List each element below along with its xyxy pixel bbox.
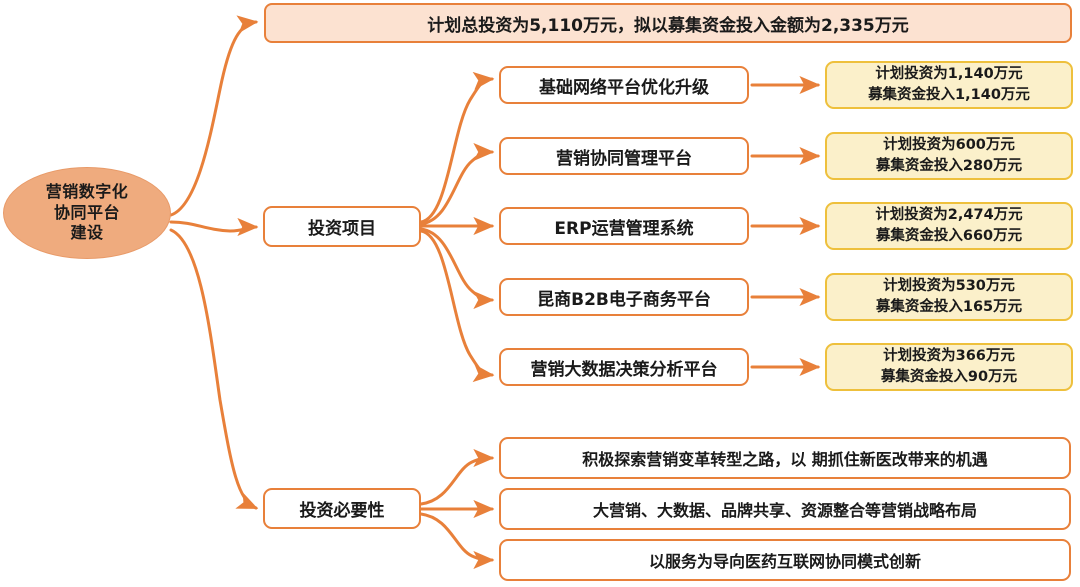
amount-box-2-text: 计划投资为600万元 募集资金投入280万元 (876, 135, 1022, 176)
necessity-box-1-label: 积极探索营销变革转型之路，以 期抓住新医改带来的机遇 (582, 446, 988, 470)
root-node-label: 营销数字化 协同平台 建设 (46, 182, 129, 243)
necessity-box-2[interactable]: 大营销、大数据、品牌共享、资源整合等营销战略布局 (499, 488, 1071, 530)
project-box-5-label: 营销大数据决策分析平台 (531, 355, 718, 380)
edge-root-need (171, 230, 256, 508)
project-box-1-label: 基础网络平台优化升级 (539, 73, 709, 98)
total-investment-banner[interactable]: 计划总投资为5,110万元，拟以募集资金投入金额为2,335万元 (264, 3, 1072, 43)
amount-box-5-raised: 募集资金投入90万元 (881, 369, 1017, 385)
edge-need-1 (421, 458, 492, 504)
project-box-2[interactable]: 营销协同管理平台 (499, 137, 749, 175)
amount-box-4-plan: 计划投资为530万元 (883, 278, 1015, 294)
amount-box-2-raised: 募集资金投入280万元 (876, 158, 1022, 174)
necessity-box-1[interactable]: 积极探索营销变革转型之路，以 期抓住新医改带来的机遇 (499, 437, 1071, 479)
root-label-line1: 营销数字化 (46, 182, 129, 201)
edge-projects-5 (421, 231, 492, 375)
amount-box-4-raised: 募集资金投入165万元 (876, 299, 1022, 315)
amount-box-2-plan: 计划投资为600万元 (883, 137, 1015, 153)
root-label-line2: 协同平台 (54, 203, 120, 222)
amount-box-4[interactable]: 计划投资为530万元 募集资金投入165万元 (825, 273, 1073, 321)
project-box-3[interactable]: ERP运营管理系统 (499, 207, 749, 245)
necessity-box-3[interactable]: 以服务为导向医药互联网协同模式创新 (499, 539, 1071, 581)
project-box-3-label: ERP运营管理系统 (554, 214, 693, 239)
amount-box-1-text: 计划投资为1,140万元 募集资金投入1,140万元 (868, 64, 1030, 105)
edge-root-banner (171, 22, 256, 215)
edge-projects-2 (421, 152, 492, 224)
branch-investment-necessity[interactable]: 投资必要性 (263, 488, 421, 529)
amount-box-3-raised: 募集资金投入660万元 (876, 228, 1022, 244)
edge-projects-4 (421, 229, 492, 300)
edge-root-projects (171, 222, 256, 231)
root-label-line3: 建设 (70, 223, 103, 242)
amount-box-3-text: 计划投资为2,474万元 募集资金投入660万元 (875, 205, 1022, 246)
amount-box-4-text: 计划投资为530万元 募集资金投入165万元 (876, 276, 1022, 317)
amount-box-3-plan: 计划投资为2,474万元 (875, 207, 1022, 223)
project-box-4-label: 昆商B2B电子商务平台 (537, 285, 711, 310)
mindmap-canvas: 营销数字化 协同平台 建设 计划总投资为5,110万元，拟以募集资金投入金额为2… (0, 0, 1080, 587)
branch-investment-projects-label: 投资项目 (308, 214, 376, 239)
amount-box-3[interactable]: 计划投资为2,474万元 募集资金投入660万元 (825, 202, 1073, 250)
project-box-4[interactable]: 昆商B2B电子商务平台 (499, 278, 749, 316)
amount-box-2[interactable]: 计划投资为600万元 募集资金投入280万元 (825, 132, 1073, 180)
necessity-box-2-label: 大营销、大数据、品牌共享、资源整合等营销战略布局 (593, 497, 977, 521)
edge-need-3 (421, 514, 492, 560)
branch-investment-projects[interactable]: 投资项目 (263, 206, 421, 247)
amount-box-5-text: 计划投资为366万元 募集资金投入90万元 (881, 346, 1017, 387)
amount-box-1[interactable]: 计划投资为1,140万元 募集资金投入1,140万元 (825, 61, 1073, 109)
project-box-5[interactable]: 营销大数据决策分析平台 (499, 348, 749, 386)
project-box-1[interactable]: 基础网络平台优化升级 (499, 66, 749, 104)
branch-investment-necessity-label: 投资必要性 (300, 496, 385, 521)
amount-box-1-plan: 计划投资为1,140万元 (875, 66, 1022, 82)
necessity-box-3-label: 以服务为导向医药互联网协同模式创新 (649, 548, 921, 572)
total-investment-text: 计划总投资为5,110万元，拟以募集资金投入金额为2,335万元 (427, 11, 909, 36)
amount-box-1-raised: 募集资金投入1,140万元 (868, 87, 1030, 103)
amount-box-5[interactable]: 计划投资为366万元 募集资金投入90万元 (825, 343, 1073, 391)
edge-projects-1 (421, 79, 492, 222)
project-box-2-label: 营销协同管理平台 (556, 144, 692, 169)
root-node[interactable]: 营销数字化 协同平台 建设 (3, 167, 171, 259)
amount-box-5-plan: 计划投资为366万元 (883, 348, 1015, 364)
